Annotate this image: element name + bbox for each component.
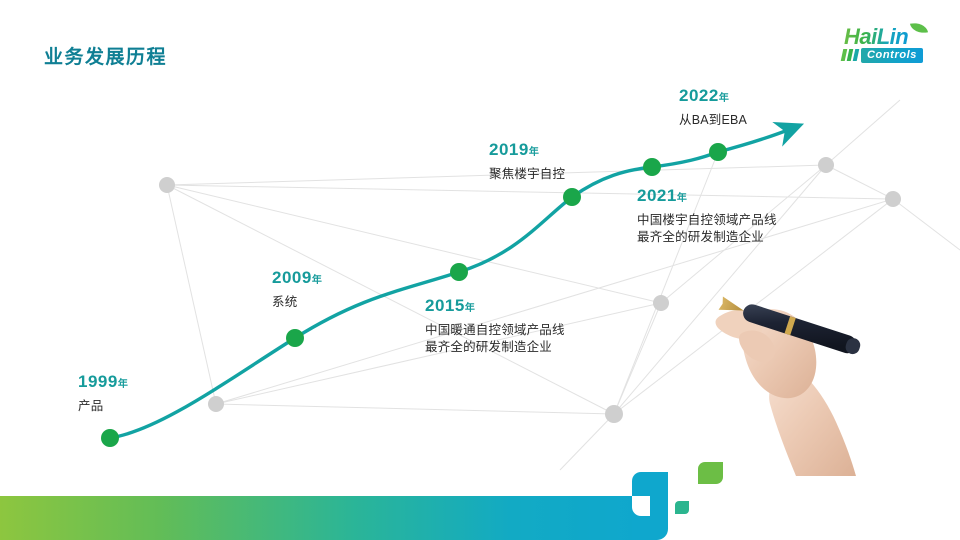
logo-tagline: Controls [861,48,923,63]
milestone-year: 2021年 [637,186,777,206]
decor-square-green [698,462,723,484]
footer-gradient-bar [0,496,640,540]
milestone-dot-1999 [101,429,119,447]
milestone-dot-2021 [643,158,661,176]
milestone-label-2021: 2021年 中国楼宇自控领域产品线 最齐全的研发制造企业 [637,186,777,246]
slide-canvas: 业务发展历程 HaiLin Controls 1999年 产品 2009年 系统… [0,0,960,540]
milestone-label-1999: 1999年 产品 [78,372,128,415]
milestone-label-2019: 2019年 聚焦楼宇自控 [489,140,565,183]
milestone-desc: 产品 [78,398,128,415]
milestone-dot-2015 [450,263,468,281]
milestone-dot-2009 [286,329,304,347]
page-title: 业务发展历程 [44,42,167,69]
logo-wordmark: HaiLin [844,24,908,50]
bars-icon [842,49,858,61]
milestone-year: 2022年 [679,86,747,106]
milestone-label-2015: 2015年 中国暖通自控领域产品线 最齐全的研发制造企业 [425,296,565,356]
milestone-year: 2019年 [489,140,565,160]
milestone-desc: 中国暖通自控领域产品线 最齐全的研发制造企业 [425,322,565,356]
milestone-desc: 聚焦楼宇自控 [489,166,565,183]
milestone-year: 2009年 [272,268,322,288]
milestone-dot-2022 [709,143,727,161]
brand-logo: HaiLin Controls [826,24,944,68]
growth-curve [0,0,960,540]
milestone-desc: 系统 [272,294,322,311]
milestone-year: 2015年 [425,296,565,316]
footer-notch [632,496,650,516]
decor-square-teal [675,501,689,514]
milestone-year: 1999年 [78,372,128,392]
milestone-label-2009: 2009年 系统 [272,268,322,311]
milestone-desc: 中国楼宇自控领域产品线 最齐全的研发制造企业 [637,212,777,246]
curve-path [110,128,793,438]
milestone-label-2022: 2022年 从BA到EBA [679,86,747,129]
milestone-dot-2019 [563,188,581,206]
milestone-desc: 从BA到EBA [679,112,747,129]
